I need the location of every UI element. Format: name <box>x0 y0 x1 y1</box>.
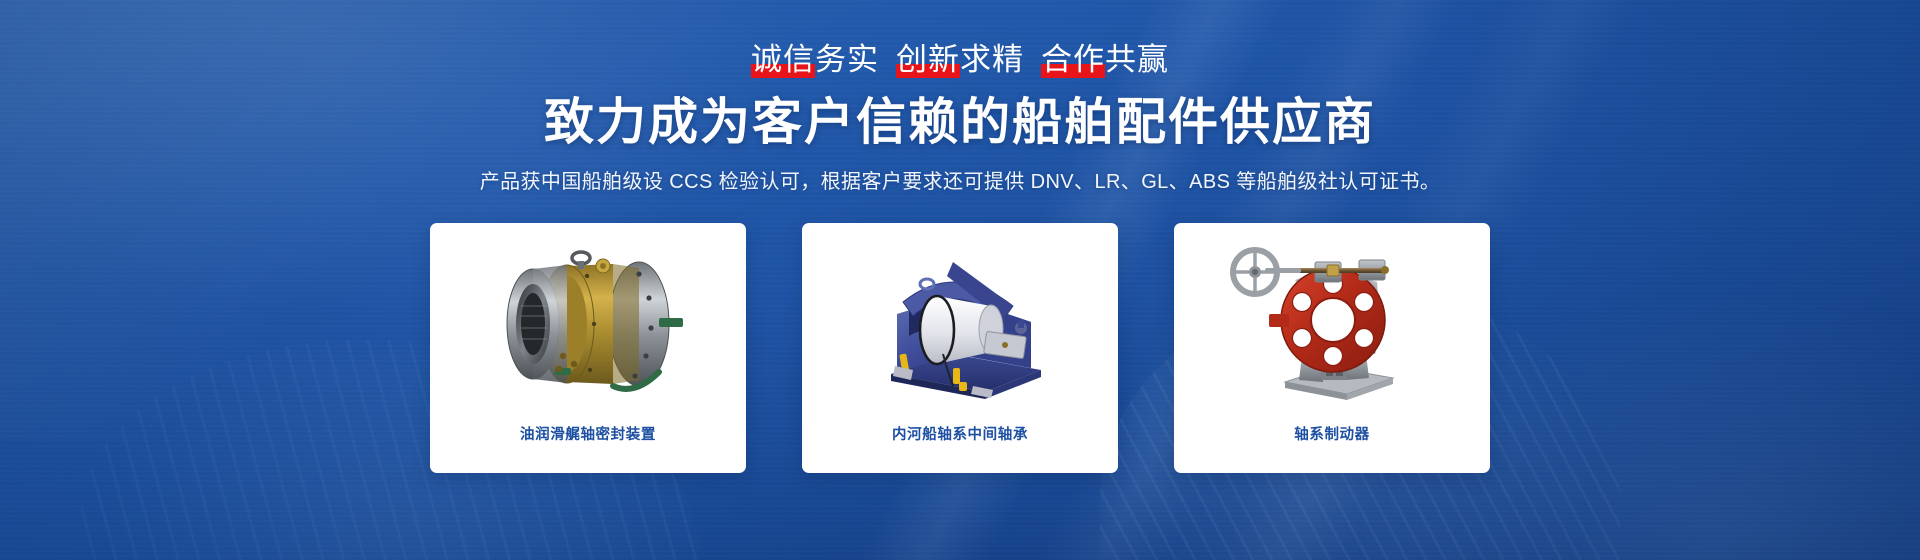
tagline-group-2: 创新求精 <box>896 44 1024 75</box>
banner-content: 诚信务实 创新求精 合作共赢 致力成为客户信赖的船舶配件供应商 产品获中国船舶级… <box>0 0 1920 560</box>
product-card[interactable]: 内河船轴系中间轴承 <box>802 223 1118 473</box>
product-card[interactable]: 轴系制动器 <box>1174 223 1490 473</box>
banner-subtitle: 产品获中国船舶级设 CCS 检验认可，根据客户要求还可提供 DNV、LR、GL、… <box>480 168 1441 196</box>
product-card-label: 内河船轴系中间轴承 <box>892 423 1028 444</box>
product-card-label: 油润滑艉轴密封装置 <box>520 423 656 444</box>
tagline-text-2: 创新求精 <box>896 42 1024 77</box>
tagline-text-1: 诚信务实 <box>751 42 879 77</box>
tagline-group-3: 合作共赢 <box>1041 44 1169 75</box>
shaft-brake-photo <box>1182 233 1482 413</box>
tagline-text-3: 合作共赢 <box>1041 42 1169 77</box>
banner-tagline: 诚信务实 创新求精 合作共赢 <box>751 44 1169 75</box>
tagline-group-1: 诚信务实 <box>751 44 879 75</box>
product-card-row: 油润滑艉轴密封装置 <box>430 223 1490 473</box>
hero-banner: 诚信务实 创新求精 合作共赢 致力成为客户信赖的船舶配件供应商 产品获中国船舶级… <box>0 0 1920 560</box>
intermediate-bearing-photo <box>810 233 1110 413</box>
product-card[interactable]: 油润滑艉轴密封装置 <box>430 223 746 473</box>
banner-headline: 致力成为客户信赖的船舶配件供应商 <box>544 94 1376 150</box>
stern-shaft-seal-photo <box>438 233 738 413</box>
product-card-label: 轴系制动器 <box>1294 423 1370 444</box>
